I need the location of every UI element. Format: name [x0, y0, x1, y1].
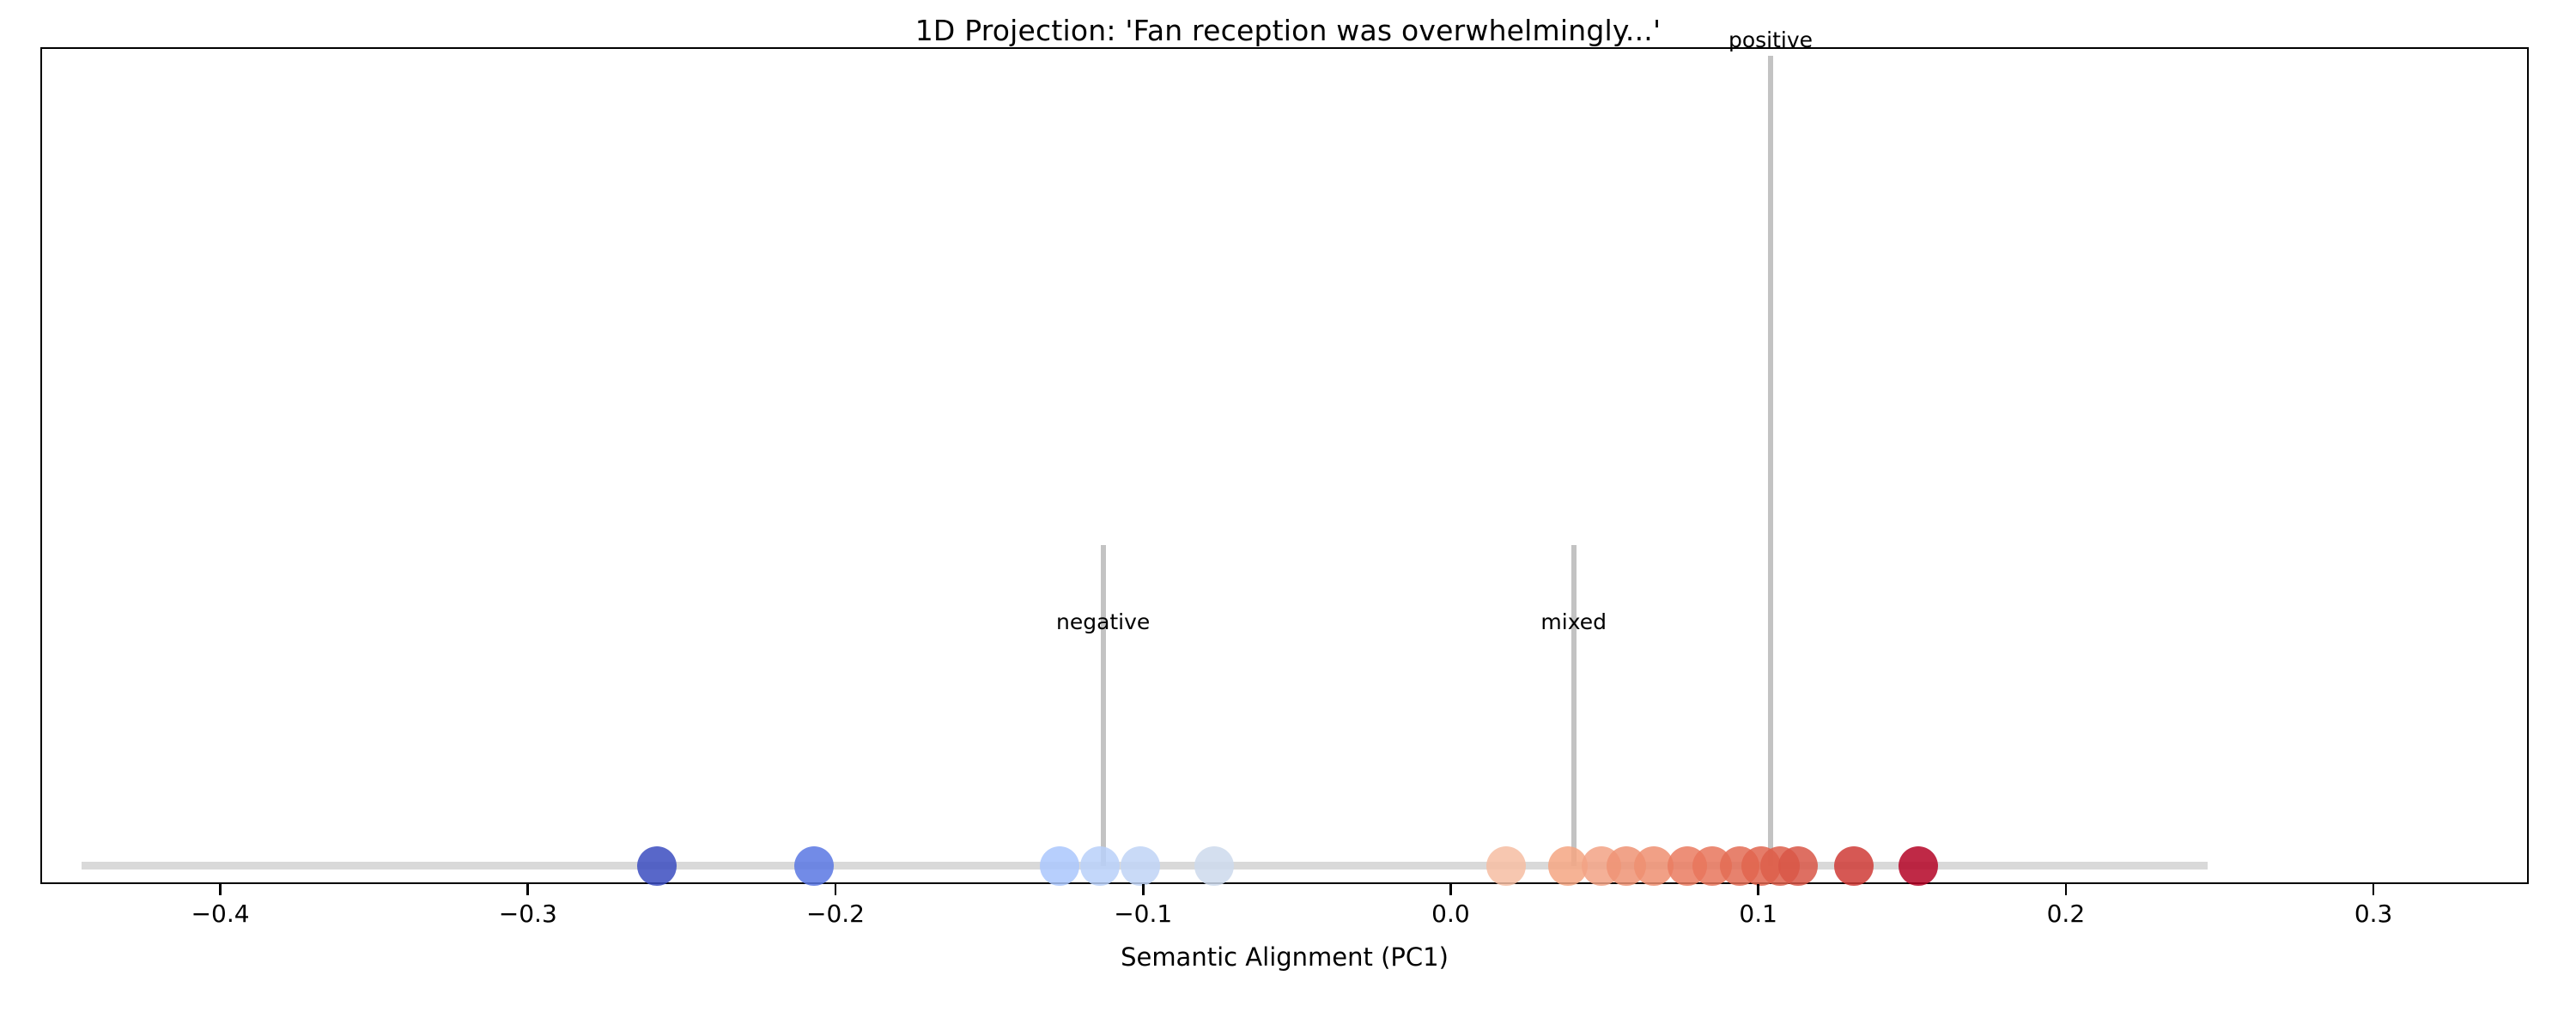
data-point — [1834, 846, 1874, 886]
x-tick-label: 0.2 — [2047, 900, 2086, 928]
chart-figure: 1D Projection: 'Fan reception was overwh… — [0, 0, 2576, 1030]
anchor-stem-mixed — [1571, 545, 1577, 865]
x-tick-label: −0.2 — [806, 900, 865, 928]
data-point — [1486, 846, 1526, 886]
anchor-stem-negative — [1101, 545, 1106, 865]
x-tick-label: −0.4 — [191, 900, 250, 928]
x-tick-mark — [835, 884, 837, 895]
x-tick-mark — [2372, 884, 2375, 895]
x-tick-mark — [219, 884, 222, 895]
data-point — [1899, 846, 1938, 886]
x-axis-label: Semantic Alignment (PC1) — [40, 942, 2529, 972]
anchor-stem-positive — [1768, 56, 1773, 866]
data-point — [1040, 846, 1079, 886]
anchor-label-negative: negative — [1056, 609, 1150, 634]
x-tick-mark — [1142, 884, 1145, 895]
x-tick-mark — [526, 884, 529, 895]
data-point — [637, 846, 677, 886]
x-tick-label: 0.1 — [1739, 900, 1777, 928]
data-point — [1194, 846, 1234, 886]
chart-title: 1D Projection: 'Fan reception was overwh… — [0, 14, 2576, 47]
x-tick-mark — [1449, 884, 1452, 895]
x-tick-label: −0.1 — [1114, 900, 1172, 928]
anchor-label-mixed: mixed — [1540, 609, 1607, 634]
x-tick-mark — [1757, 884, 1759, 895]
x-tick-label: 0.3 — [2354, 900, 2393, 928]
data-point — [794, 846, 834, 886]
plot-area — [40, 47, 2529, 884]
x-tick-label: 0.0 — [1431, 900, 1470, 928]
x-tick-mark — [2065, 884, 2068, 895]
data-point — [1121, 846, 1160, 886]
x-tick-label: −0.3 — [499, 900, 557, 928]
data-point — [1080, 846, 1120, 886]
data-point — [1778, 846, 1818, 886]
anchor-label-positive: positive — [1728, 27, 1813, 52]
